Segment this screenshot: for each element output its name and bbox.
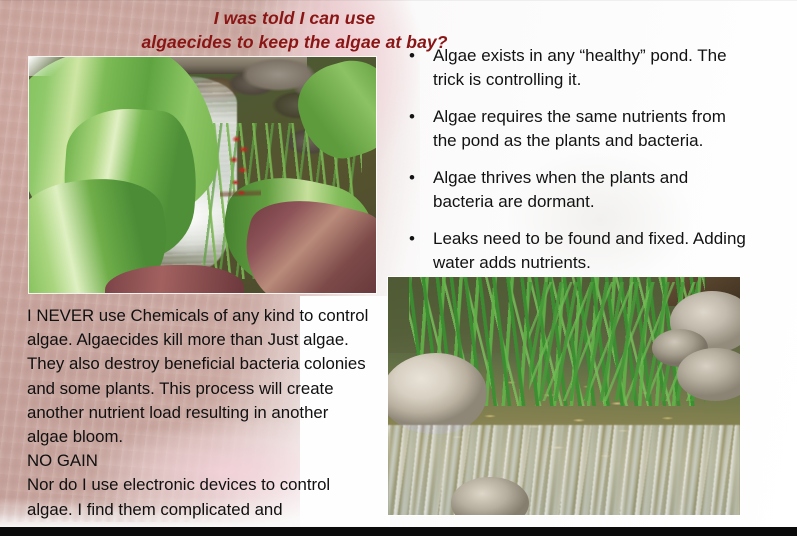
- bullet-text: Algae exists in any “healthy” pond. The …: [433, 44, 750, 91]
- bullet-marker-icon: •: [405, 105, 433, 128]
- list-item: • Leaks need to be found and fixed. Addi…: [405, 227, 750, 274]
- waterfall-photo: [29, 57, 376, 293]
- bullet-marker-icon: •: [405, 227, 433, 250]
- top-hairline: [0, 0, 797, 1]
- list-item: • Algae requires the same nutrients from…: [405, 105, 750, 152]
- list-item: • Algae exists in any “healthy” pond. Th…: [405, 44, 750, 91]
- bottom-bar: [0, 527, 797, 536]
- pond-photo: [388, 277, 740, 515]
- bullet-text: Algae requires the same nutrients from t…: [433, 105, 750, 152]
- bullet-marker-icon: •: [405, 44, 433, 67]
- pond-photo-foam: [388, 425, 740, 515]
- bullet-marker-icon: •: [405, 166, 433, 189]
- body-paragraph: I NEVER use Chemicals of any kind to con…: [27, 304, 372, 536]
- bullet-text: Leaks need to be found and fixed. Adding…: [433, 227, 750, 274]
- slide-canvas: I was told I can use algaecides to keep …: [0, 0, 797, 536]
- pond-photo-boulder: [388, 353, 487, 434]
- bullet-text: Algae thrives when the plants and bacter…: [433, 166, 750, 213]
- bullet-list: • Algae exists in any “healthy” pond. Th…: [405, 44, 750, 288]
- waterfall-photo-highlight: [29, 57, 71, 76]
- list-item: • Algae thrives when the plants and bact…: [405, 166, 750, 213]
